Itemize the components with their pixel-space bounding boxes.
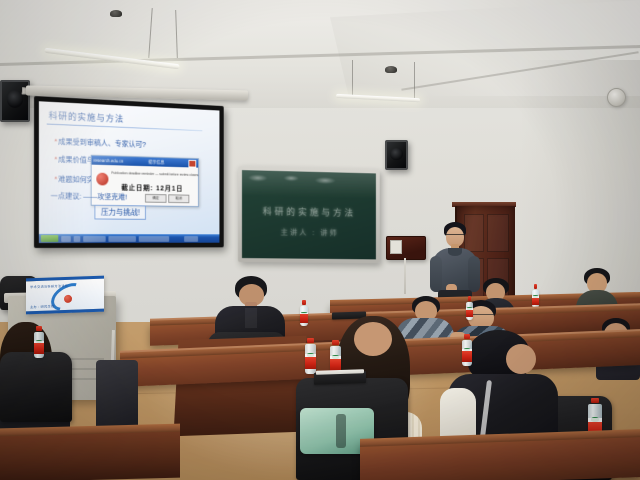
blackboard-line-1: 科研的实施与方法 <box>242 204 376 219</box>
light-wire <box>414 62 415 100</box>
lectern-banner: 学术交流与科研方法讲座 主办 : 研究生院 <box>26 276 104 315</box>
control-panel-icon <box>390 240 402 254</box>
bottle-cap <box>591 398 599 403</box>
water-bottle[interactable] <box>532 284 539 308</box>
speaker-cone-icon <box>7 90 24 107</box>
av-control-box[interactable] <box>386 236 426 260</box>
bottle-cap <box>332 340 338 345</box>
water-bottle[interactable] <box>305 338 316 374</box>
chair-back[interactable] <box>0 352 72 422</box>
suit-collar <box>245 308 257 328</box>
blackboard-line-2: 主讲人 : 讲师 <box>242 226 376 239</box>
bottle-label <box>305 357 316 370</box>
taskbar-item <box>139 236 169 242</box>
light-wire <box>352 60 353 96</box>
dialog-url-hint: research.edu.cn <box>94 158 124 164</box>
blackboard-glare <box>248 174 268 181</box>
wall-clock <box>607 88 626 107</box>
water-bottle[interactable] <box>462 334 472 366</box>
water-bottle[interactable] <box>300 300 308 326</box>
bottle-body <box>532 290 539 308</box>
bottle-cap <box>36 326 42 331</box>
water-bottle[interactable] <box>34 326 44 358</box>
taskbar-item <box>74 236 81 242</box>
projected-slide: 科研的实施与方法 *成果受到审稿人、专家认可? *成果价值与影响力如何? *难题… <box>39 101 220 243</box>
slide-bullet-text: 成果受到审稿人、专家认可? <box>58 137 146 149</box>
bottle-body <box>462 340 472 366</box>
taskbar-item <box>83 236 106 242</box>
wall-speaker-right <box>385 140 408 170</box>
presenter-collar <box>448 248 462 256</box>
ceiling-sensor-icon <box>385 66 397 73</box>
taskbar-item <box>108 236 136 242</box>
speaker-cone-icon <box>390 148 402 160</box>
blackboard-glare <box>283 175 299 181</box>
backpack-strap <box>336 414 346 448</box>
bullet-star-icon: * <box>54 155 57 164</box>
bottle-label <box>532 298 539 306</box>
dialog-title: 提示信息 <box>148 159 164 165</box>
bottle-body <box>466 302 473 320</box>
bottle-cap <box>468 296 472 301</box>
dialog-message: Publication deadline reminder — submit b… <box>111 171 199 178</box>
bottle-cap <box>307 338 313 343</box>
door-panel <box>487 214 509 252</box>
water-bottle[interactable] <box>466 296 473 320</box>
control-box-pole <box>404 258 406 294</box>
slide-bullet-1: *成果受到审稿人、专家认可? <box>54 136 146 150</box>
bottle-body <box>34 332 44 358</box>
banner-text-bottom: 主办 : 研究生院 <box>30 303 54 309</box>
warning-icon <box>95 172 109 187</box>
ceiling-sensor-icon <box>110 10 122 17</box>
start-button-icon <box>41 235 58 242</box>
slide-title-rule <box>47 124 203 132</box>
blackboard-glare <box>315 177 336 184</box>
dialog-highlight: 截止日期: 12月1日 <box>121 183 183 194</box>
dialog-cancel-button: 取消 <box>168 194 189 203</box>
taskbar-item <box>61 236 71 242</box>
slide-footer: 压力与挑战! <box>94 205 146 220</box>
presenter-arm-left <box>430 256 442 292</box>
classroom-photo: 科研的实施与方法 *成果受到审稿人、专家认可? *成果价值与影响力如何? *难题… <box>0 0 640 480</box>
person-head <box>506 344 536 374</box>
bottle-body <box>300 306 308 326</box>
glasses-icon <box>446 234 464 238</box>
bottle-label <box>300 314 308 322</box>
slide-title: 科研的实施与方法 <box>49 109 124 125</box>
bottle-body <box>305 344 316 374</box>
projection-screen: 科研的实施与方法 *成果受到审稿人、专家认可? *成果价值与影响力如何? *难题… <box>34 96 224 248</box>
bottle-label <box>466 310 473 318</box>
taskbar-tray <box>184 236 198 242</box>
bullet-star-icon: * <box>54 174 57 183</box>
bottle-cap <box>464 334 470 339</box>
bottle-cap <box>534 284 538 289</box>
projected-taskbar <box>39 234 220 243</box>
bottle-cap <box>302 300 306 305</box>
dialog-ok-button: 确定 <box>145 194 166 203</box>
blackboard-surface: 科研的实施与方法 主讲人 : 讲师 <box>242 170 376 259</box>
bottle-label <box>462 351 472 362</box>
person-head <box>354 322 392 356</box>
close-icon <box>188 159 196 167</box>
bottle-label <box>34 343 44 354</box>
blackboard: 科研的实施与方法 主讲人 : 讲师 <box>238 166 380 263</box>
slide-note: 一点建议: ——攻坚克难! <box>51 190 128 202</box>
bullet-star-icon: * <box>54 137 57 146</box>
